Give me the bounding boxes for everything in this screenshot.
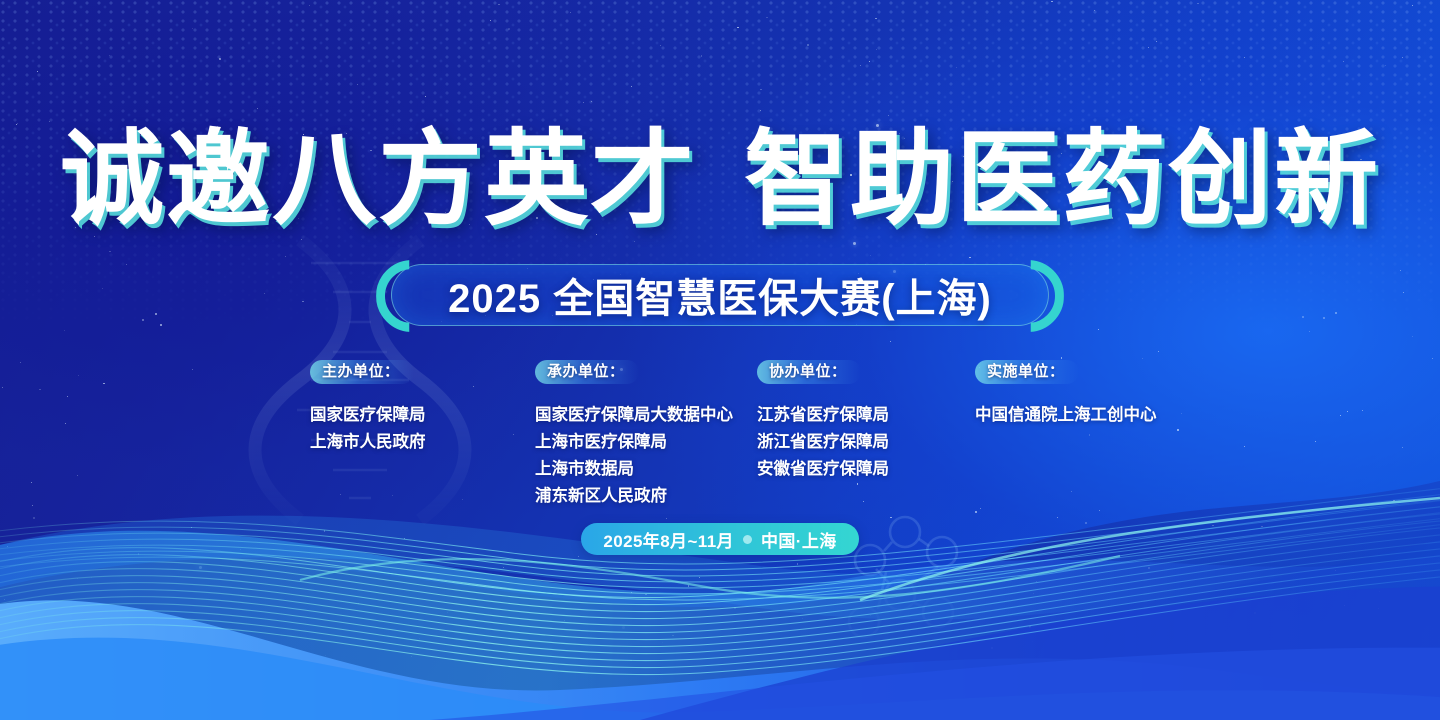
- organizer-list-coorganizer: 江苏省医疗保障局 浙江省医疗保障局 安徽省医疗保障局: [757, 402, 889, 483]
- organizer-list-organizer: 国家医疗保障局大数据中心 上海市医疗保障局 上海市数据局 浦东新区人民政府: [535, 402, 733, 510]
- headline-right: 智助医药创新: [744, 122, 1380, 238]
- poster-banner: 诚邀八方英才智助医药创新 2025 全国智慧医保大赛(上海) 主办单位： 国家医…: [0, 0, 1440, 720]
- organizers-section: 主办单位： 国家医疗保障局 上海市人民政府 承办单位： 国家医疗保障局大数据中心…: [0, 360, 1440, 510]
- organizer-column-organizer: 承办单位： 国家医疗保障局大数据中心 上海市医疗保障局 上海市数据局 浦东新区人…: [535, 360, 733, 510]
- list-item: 上海市数据局: [535, 456, 733, 483]
- list-item: 上海市医疗保障局: [535, 429, 733, 456]
- event-location: 中国·上海: [761, 527, 837, 552]
- organizer-list-executor: 中国信通院上海工创中心: [975, 402, 1157, 429]
- pill-left-arc-icon: [376, 260, 448, 332]
- list-item: 国家医疗保障局: [310, 402, 426, 429]
- event-date: 2025年8月~11月: [603, 527, 734, 552]
- list-item: 国家医疗保障局大数据中心: [535, 402, 733, 429]
- subtitle-pill: 2025 全国智慧医保大赛(上海): [391, 264, 1049, 326]
- pill-right-arc-icon: [992, 260, 1064, 332]
- date-location-wrapper: 2025年8月~11月 中国·上海: [0, 523, 1440, 555]
- list-item: 江苏省医疗保障局: [757, 402, 889, 429]
- list-item: 浦东新区人民政府: [535, 483, 733, 510]
- list-item: 中国信通院上海工创中心: [975, 402, 1157, 429]
- organizer-tag-coorganizer: 协办单位：: [757, 360, 861, 384]
- organizer-list-host: 国家医疗保障局 上海市人民政府: [310, 402, 426, 456]
- organizer-column-host: 主办单位： 国家医疗保障局 上海市人民政府: [310, 360, 426, 456]
- subtitle-wrapper: 2025 全国智慧医保大赛(上海): [0, 264, 1440, 326]
- organizer-tag-host: 主办单位：: [310, 360, 414, 384]
- list-item: 安徽省医疗保障局: [757, 456, 889, 483]
- headline-left: 诚邀八方英才: [60, 122, 696, 238]
- organizer-tag-organizer: 承办单位：: [535, 360, 639, 384]
- organizer-column-coorganizer: 协办单位： 江苏省医疗保障局 浙江省医疗保障局 安徽省医疗保障局: [757, 360, 889, 483]
- organizer-tag-executor: 实施单位：: [975, 360, 1079, 384]
- subtitle-text: 2025 全国智慧医保大赛(上海): [448, 266, 992, 324]
- date-location-pill: 2025年8月~11月 中国·上海: [581, 523, 858, 555]
- list-item: 上海市人民政府: [310, 429, 426, 456]
- list-item: 浙江省医疗保障局: [757, 429, 889, 456]
- bullet-dot-icon: [743, 535, 752, 544]
- organizer-column-executor: 实施单位： 中国信通院上海工创中心: [975, 360, 1157, 429]
- page-title: 诚邀八方英才智助医药创新: [0, 128, 1440, 232]
